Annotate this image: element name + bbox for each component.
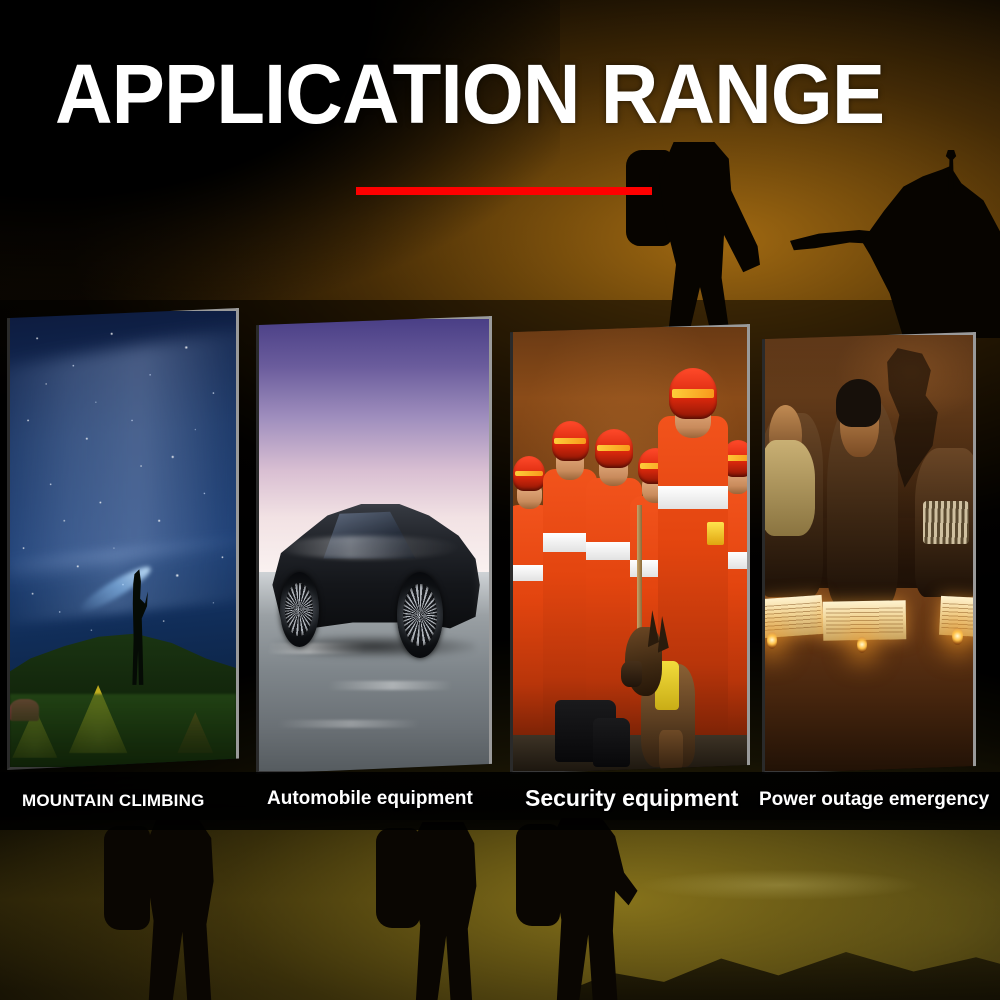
application-panel-gallery bbox=[0, 0, 1000, 1000]
image-candlelight-study bbox=[765, 335, 973, 771]
panel-security-equipment[interactable] bbox=[510, 324, 750, 774]
red-helmet bbox=[669, 368, 717, 419]
rear-alloy-wheel bbox=[397, 572, 443, 658]
image-night-camping bbox=[10, 311, 236, 767]
caption-mountain-climbing: MOUNTAIN CLIMBING bbox=[22, 791, 205, 811]
child-scarf bbox=[765, 440, 815, 536]
child-center-hair bbox=[836, 379, 882, 427]
candle-flame-icon-center bbox=[857, 636, 867, 653]
foreground-grass bbox=[10, 694, 236, 767]
striped-cloth bbox=[923, 501, 969, 545]
german-shepherd-rescue-dog bbox=[625, 624, 695, 766]
candle-flame-icon-right bbox=[952, 627, 962, 644]
image-sports-car bbox=[259, 319, 489, 771]
reflective-stripe bbox=[658, 486, 728, 508]
red-helmet bbox=[595, 429, 633, 468]
red-helmet bbox=[552, 421, 589, 461]
front-alloy-wheel bbox=[280, 572, 319, 647]
panel-mountain-climbing[interactable] bbox=[7, 308, 239, 770]
car-body-highlight bbox=[277, 536, 461, 559]
dog-snout bbox=[621, 661, 642, 687]
image-rescue-team bbox=[513, 327, 747, 771]
open-book-center bbox=[823, 600, 907, 641]
dog-legs bbox=[659, 730, 683, 771]
red-helmet bbox=[513, 456, 545, 491]
caption-power-outage-emergency: Power outage emergency bbox=[759, 789, 989, 811]
panel-automobile-equipment[interactable] bbox=[256, 316, 492, 774]
panel-power-outage-emergency[interactable] bbox=[762, 332, 976, 774]
uniform-badge bbox=[707, 522, 723, 544]
caption-security-equipment: Security equipment bbox=[525, 785, 738, 812]
caption-automobile-equipment: Automobile equipment bbox=[267, 788, 473, 810]
